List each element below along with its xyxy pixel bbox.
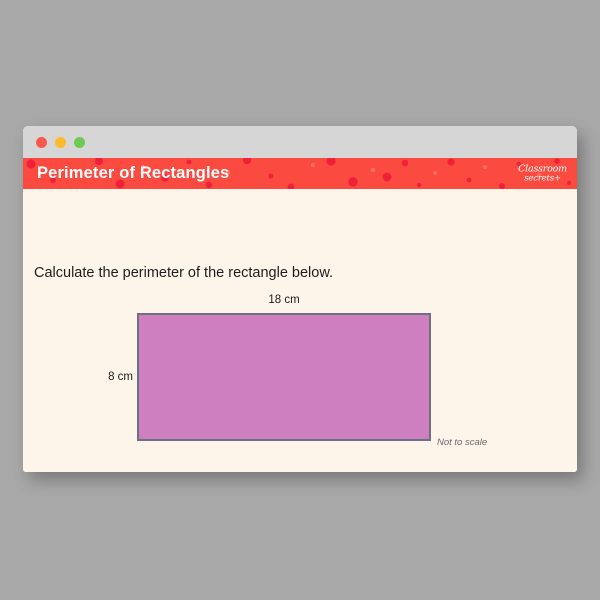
lesson-header-band: Perimeter of Rectangles Classroom secret… xyxy=(23,158,577,189)
rectangle-figure: 18 cm 8 cm Not to scale xyxy=(23,189,577,472)
maximize-window-button[interactable] xyxy=(74,137,85,148)
brand-name-line-1: Classroom xyxy=(518,164,567,174)
page-title: Perimeter of Rectangles xyxy=(37,164,229,183)
brand-name-line-2: secrets+ xyxy=(518,175,567,184)
not-to-scale-note: Not to scale xyxy=(437,437,487,448)
app-window: Perimeter of Rectangles Classroom secret… xyxy=(23,126,577,472)
lesson-content-area: Calculate the perimeter of the rectangle… xyxy=(23,189,577,472)
width-dimension-label: 18 cm xyxy=(137,294,431,306)
classroom-secrets-logo: Classroom secrets+ xyxy=(518,164,567,183)
minimize-window-button[interactable] xyxy=(55,137,66,148)
close-window-button[interactable] xyxy=(36,137,47,148)
rectangle-shape xyxy=(137,313,431,441)
height-dimension-label: 8 cm xyxy=(85,371,133,383)
window-title-bar xyxy=(23,126,577,158)
